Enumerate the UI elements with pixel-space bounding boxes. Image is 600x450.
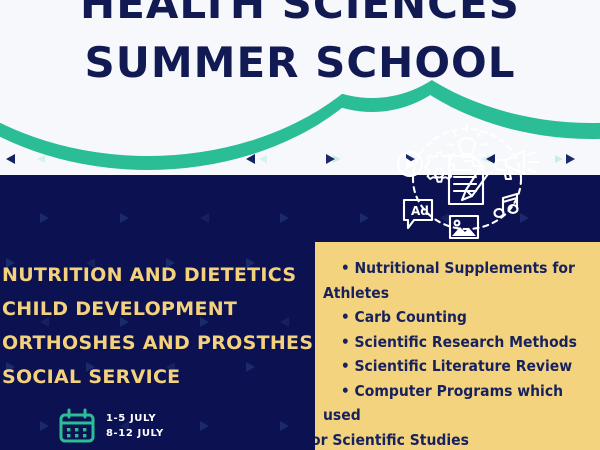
bullet-glyph: • bbox=[341, 357, 350, 375]
document-pencil-icon bbox=[449, 156, 488, 204]
dates-row: 1-5 JULY 8-12 JULY bbox=[58, 408, 164, 444]
decorative-triangle bbox=[40, 213, 49, 223]
calendar-icon bbox=[58, 408, 96, 444]
topic-label: Computer Programs which used bbox=[323, 382, 563, 425]
department-item: SOCIAL SERVICE bbox=[0, 360, 318, 394]
bullet-glyph: • bbox=[341, 382, 350, 400]
music-note-icon bbox=[495, 194, 518, 217]
topic-label: Scientific Literature Review bbox=[355, 357, 573, 375]
department-item: NUTRITION AND DIETETICS bbox=[0, 258, 318, 292]
topic-item: • Computer Programs which used for Scien… bbox=[323, 379, 592, 450]
topic-item: • Scientific Literature Review bbox=[323, 354, 592, 379]
topic-label: Scientific Research Methods bbox=[355, 333, 577, 351]
departments-list: NUTRITION AND DIETETICS CHILD DEVELOPMEN… bbox=[0, 258, 318, 394]
bullet-glyph: • bbox=[341, 259, 350, 277]
decorative-triangle bbox=[200, 213, 209, 223]
decorative-triangle bbox=[280, 213, 289, 223]
topic-item: • Carb Counting bbox=[323, 305, 592, 330]
decorative-triangle bbox=[200, 421, 209, 431]
poster-title: HEALTH SCIENCES SUMMER SCHOOL bbox=[0, 0, 600, 92]
topic-label: Carb Counting bbox=[355, 308, 467, 326]
department-item: ORTHOSHES AND PROSTHESIS bbox=[0, 326, 318, 360]
topic-item: • Nutritional Supplements for Athletes bbox=[323, 256, 592, 305]
bullet-glyph: • bbox=[341, 308, 350, 326]
decorative-triangle bbox=[120, 213, 129, 223]
play-button-icon bbox=[398, 152, 422, 176]
decorative-triangle bbox=[40, 421, 49, 431]
topic-label: Nutritional Supplements for Athletes bbox=[323, 259, 575, 302]
svg-text:Ad: Ad bbox=[411, 204, 429, 218]
decorative-triangle bbox=[360, 213, 369, 223]
date-line: 8-12 JULY bbox=[106, 426, 164, 441]
title-line-1: HEALTH SCIENCES bbox=[0, 0, 600, 33]
poster-canvas: HEALTH SCIENCES SUMMER SCHOOL bbox=[0, 0, 600, 450]
topic-continuation: for Scientific Studies bbox=[323, 428, 592, 450]
decorative-triangle bbox=[280, 421, 289, 431]
department-item: CHILD DEVELOPMENT bbox=[0, 292, 318, 326]
date-line: 1-5 JULY bbox=[106, 411, 164, 426]
topic-item: • Scientific Research Methods bbox=[323, 330, 592, 355]
bullet-glyph: • bbox=[341, 333, 350, 351]
megaphone-icon bbox=[495, 151, 538, 179]
topics-panel: • Nutritional Supplements for Athletes •… bbox=[315, 242, 600, 450]
ad-speech-bubble-icon: Ad bbox=[404, 200, 432, 228]
dates-text-block: 1-5 JULY 8-12 JULY bbox=[106, 411, 164, 441]
title-line-2: SUMMER SCHOOL bbox=[0, 33, 600, 92]
content-creation-icon-cluster: Ad bbox=[392, 112, 542, 247]
